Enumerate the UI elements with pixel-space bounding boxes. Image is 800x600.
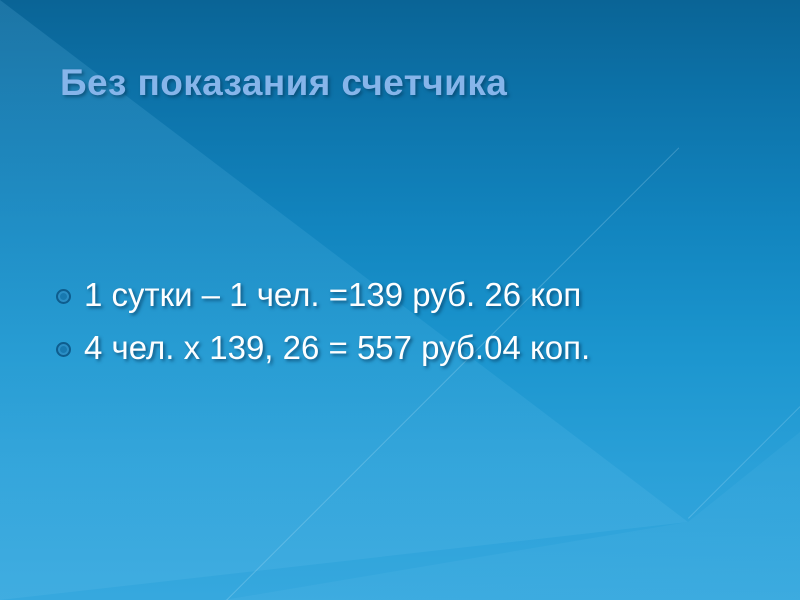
list-item: 4 чел. х 139, 26 = 557 руб.04 коп.	[56, 321, 766, 374]
background-crease-line-secondary	[688, 405, 800, 519]
bullseye-bullet-icon	[56, 289, 71, 304]
slide-title: Без показания счетчика	[60, 62, 750, 104]
list-item: 1 сутки – 1 чел. =139 руб. 26 коп	[56, 268, 766, 321]
list-item-label: 1 сутки – 1 чел. =139 руб. 26 коп	[84, 278, 766, 311]
slide-body-bullet-list: 1 сутки – 1 чел. =139 руб. 26 коп 4 чел.…	[56, 268, 766, 374]
bullseye-bullet-icon	[56, 342, 71, 357]
presentation-slide: Без показания счетчика 1 сутки – 1 чел. …	[0, 0, 800, 600]
list-item-label: 4 чел. х 139, 26 = 557 руб.04 коп.	[84, 331, 766, 364]
